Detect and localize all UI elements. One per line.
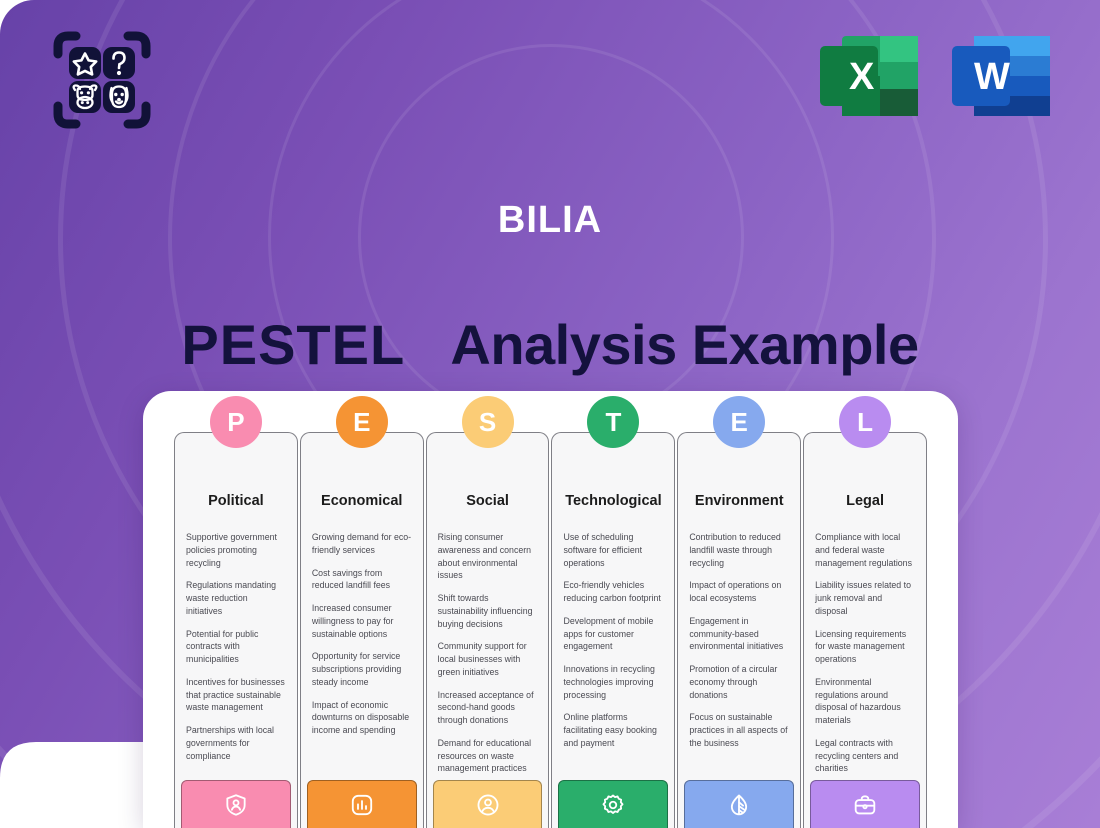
column-item: Use of scheduling software for efficient… xyxy=(563,531,663,569)
column-item-list: Growing demand for eco-friendly services… xyxy=(301,531,423,780)
column-item: Innovations in recycling technologies im… xyxy=(563,663,663,701)
briefcase-icon xyxy=(852,792,878,818)
pestel-columns: PPoliticalSupportive government policies… xyxy=(174,432,927,828)
column-item: Promotion of a circular economy through … xyxy=(689,663,789,701)
column-letter-badge: E xyxy=(336,396,388,448)
column-item-list: Rising consumer awareness and concern ab… xyxy=(427,531,549,780)
column-footer-icon-tile[interactable] xyxy=(433,780,543,828)
column-item: Cost savings from reduced landfill fees xyxy=(312,567,412,593)
pestel-column-legal: LLegalCompliance with local and federal … xyxy=(803,432,927,828)
column-heading: Technological xyxy=(552,493,674,509)
column-item: Increased consumer willingness to pay fo… xyxy=(312,602,412,640)
column-item: Potential for public contracts with muni… xyxy=(186,628,286,666)
column-letter-badge: T xyxy=(587,396,639,448)
column-item: Environmental regulations around disposa… xyxy=(815,676,915,727)
column-item: Licensing requirements for waste managem… xyxy=(815,628,915,666)
column-item: Shift towards sustainability influencing… xyxy=(438,592,538,630)
pestel-card: PPoliticalSupportive government policies… xyxy=(143,391,958,828)
column-item: Rising consumer awareness and concern ab… xyxy=(438,531,538,582)
column-item: Growing demand for eco-friendly services xyxy=(312,531,412,557)
column-item: Partnerships with local governments for … xyxy=(186,724,286,762)
office-app-icons: X W xyxy=(818,30,1054,122)
pestel-column-technological: TTechnologicalUse of scheduling software… xyxy=(551,432,675,828)
column-footer-icon-tile[interactable] xyxy=(558,780,668,828)
shield-person-icon xyxy=(223,792,249,818)
column-footer-icon-tile[interactable] xyxy=(684,780,794,828)
column-item: Impact of operations on local ecosystems xyxy=(689,579,789,605)
column-item: Community support for local businesses w… xyxy=(438,640,538,678)
column-item: Engagement in community-based environmen… xyxy=(689,615,789,653)
pestel-column-economical: EEconomicalGrowing demand for eco-friend… xyxy=(300,432,424,828)
page-title-lead: PESTEL xyxy=(181,313,405,376)
column-item-list: Contribution to reduced landfill waste t… xyxy=(678,531,800,780)
column-item: Contribution to reduced landfill waste t… xyxy=(689,531,789,569)
column-heading: Environment xyxy=(678,493,800,509)
column-item: Incentives for businesses that practice … xyxy=(186,676,286,714)
bar-chart-icon xyxy=(349,792,375,818)
pestel-column-social: SSocialRising consumer awareness and con… xyxy=(426,432,550,828)
column-heading: Economical xyxy=(301,493,423,509)
column-item: Liability issues related to junk removal… xyxy=(815,579,915,617)
bilia-logo[interactable] xyxy=(50,28,154,132)
gear-icon xyxy=(600,792,626,818)
column-item: Development of mobile apps for customer … xyxy=(563,615,663,653)
column-item: Online platforms facilitating easy booki… xyxy=(563,711,663,749)
column-item: Legal contracts with recycling centers a… xyxy=(815,737,915,775)
column-item: Increased acceptance of second-hand good… xyxy=(438,689,538,727)
column-item-list: Use of scheduling software for efficient… xyxy=(552,531,674,780)
page-title: PESTEL Analysis Example xyxy=(0,312,1100,377)
pestel-column-environment: EEnvironmentContribution to reduced land… xyxy=(677,432,801,828)
column-footer-icon-tile[interactable] xyxy=(810,780,920,828)
column-item-list: Supportive government policies promoting… xyxy=(175,531,297,780)
person-circle-icon xyxy=(475,792,501,818)
scan-frame-star-question-cow-dog-icon xyxy=(50,28,154,132)
column-item: Impact of economic downturns on disposab… xyxy=(312,699,412,737)
column-item-list: Compliance with local and federal waste … xyxy=(804,531,926,780)
column-item: Supportive government policies promoting… xyxy=(186,531,286,569)
panel-bottom-left-mask xyxy=(0,690,160,828)
word-letter: W xyxy=(974,56,1010,98)
column-item: Compliance with local and federal waste … xyxy=(815,531,915,569)
column-item: Opportunity for service subscriptions pr… xyxy=(312,650,412,688)
column-heading: Legal xyxy=(804,493,926,509)
pestel-column-political: PPoliticalSupportive government policies… xyxy=(174,432,298,828)
excel-letter: X xyxy=(849,56,875,98)
column-item: Demand for educational resources on wast… xyxy=(438,737,538,775)
column-letter-badge: L xyxy=(839,396,891,448)
column-letter-badge: P xyxy=(210,396,262,448)
column-letter-badge: E xyxy=(713,396,765,448)
slide-root: X W BILIA PESTEL Analysis Example PPolit… xyxy=(0,0,1100,828)
column-footer-icon-tile[interactable] xyxy=(307,780,417,828)
column-item: Regulations mandating waste reduction in… xyxy=(186,579,286,617)
microsoft-word-icon[interactable]: W xyxy=(950,30,1054,122)
leaf-icon xyxy=(726,792,752,818)
column-letter-badge: S xyxy=(462,396,514,448)
column-item: Eco-friendly vehicles reducing carbon fo… xyxy=(563,579,663,605)
page-title-rest: Analysis Example xyxy=(450,313,918,376)
column-footer-icon-tile[interactable] xyxy=(181,780,291,828)
column-item: Focus on sustainable practices in all as… xyxy=(689,711,789,749)
column-heading: Political xyxy=(175,493,297,509)
microsoft-excel-icon[interactable]: X xyxy=(818,30,922,122)
column-heading: Social xyxy=(427,493,549,509)
brand-name: BILIA xyxy=(0,199,1100,242)
